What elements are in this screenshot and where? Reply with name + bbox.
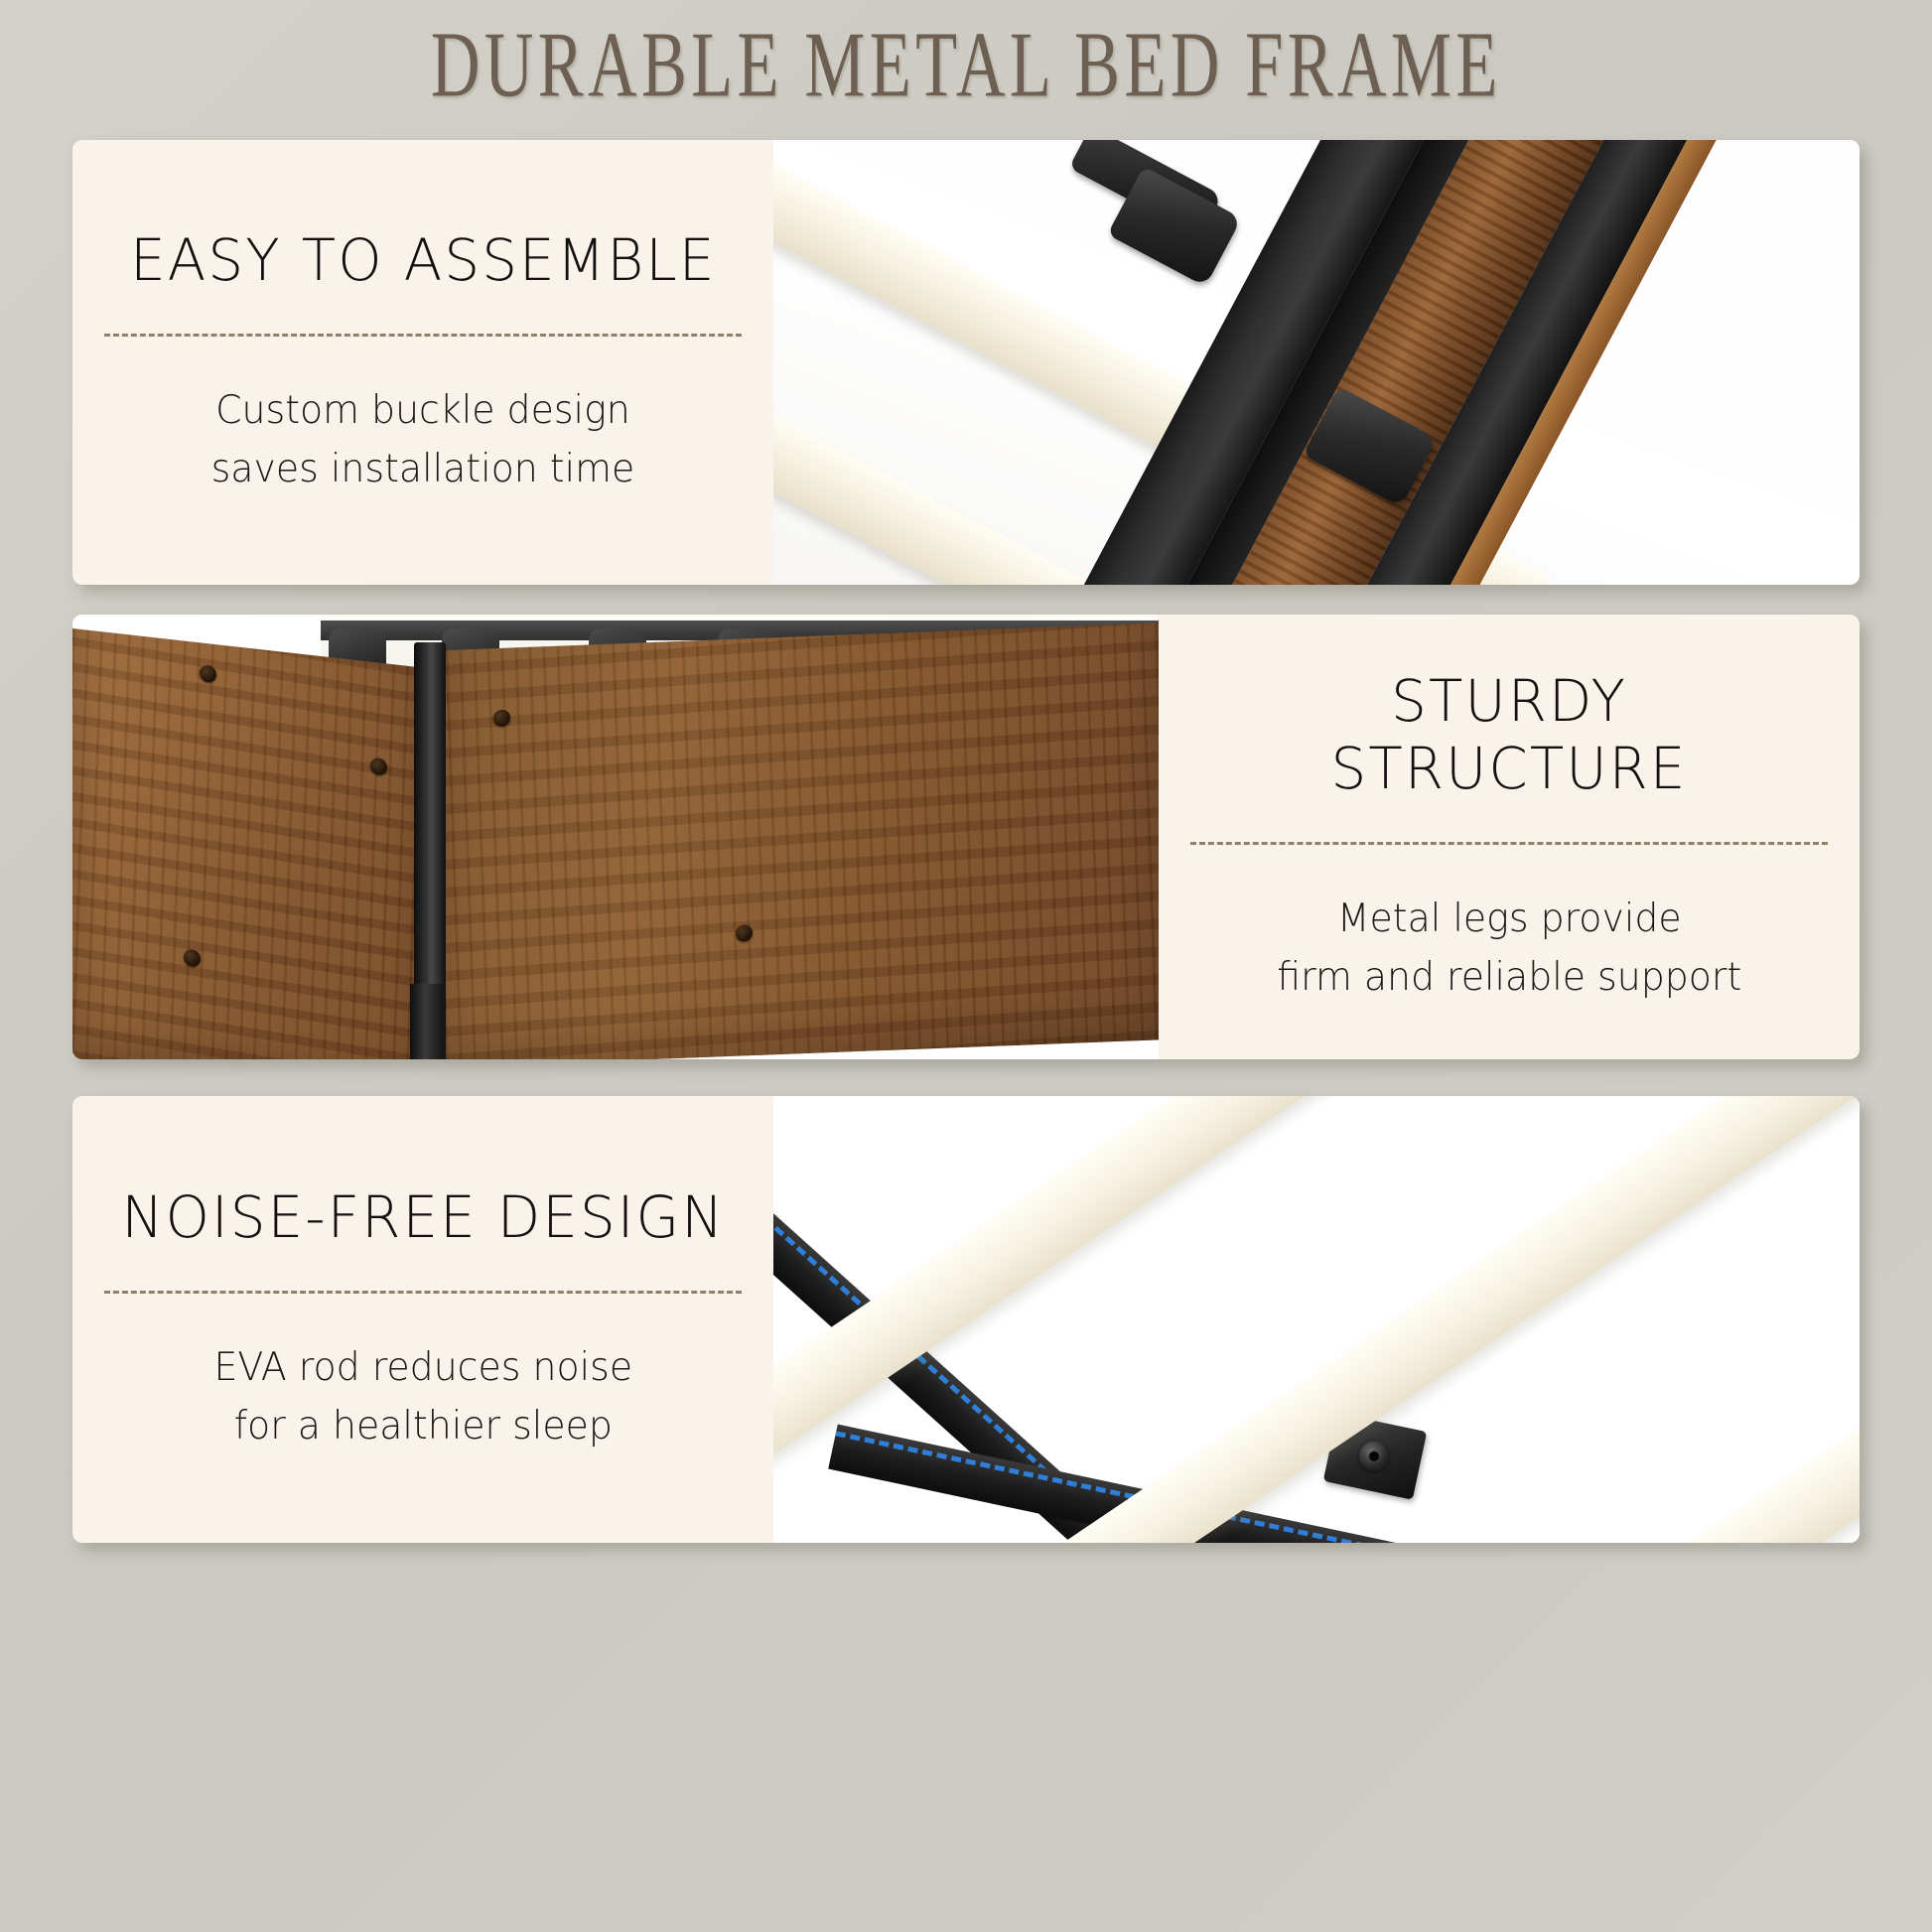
metal-leg xyxy=(410,984,444,1059)
feature-text-panel: STURDY STRUCTURE Metal legs provide firm… xyxy=(1159,615,1860,1059)
dashed-divider xyxy=(104,334,742,337)
feature-text-panel: EASY TO ASSEMBLE Custom buckle design sa… xyxy=(72,140,773,585)
wood-footboard-side xyxy=(446,622,1159,1059)
feature-body-line-1: Custom buckle design xyxy=(215,388,630,433)
feature-card-easy-to-assemble: EASY TO ASSEMBLE Custom buckle design sa… xyxy=(72,140,1860,585)
feature-photo-eva-rod-rails xyxy=(773,1096,1860,1543)
feature-heading-line-2: STRUCTURE xyxy=(1330,735,1687,802)
feature-photo-slat-buckle xyxy=(773,140,1860,585)
feature-card-noise-free-design: NOISE-FREE DESIGN EVA rod reduces noise … xyxy=(72,1096,1860,1543)
infographic-page: DURABLE METAL BED FRAME EASY TO ASSEMBLE… xyxy=(0,0,1932,1932)
feature-heading-line-1: STURDY xyxy=(1391,667,1627,735)
feature-body-line-1: Metal legs provide xyxy=(1337,897,1682,941)
feature-text-panel: NOISE-FREE DESIGN EVA rod reduces noise … xyxy=(72,1096,773,1543)
dashed-divider xyxy=(1190,842,1828,845)
page-title-bar: DURABLE METAL BED FRAME xyxy=(0,0,1932,131)
feature-body: Custom buckle design saves installation … xyxy=(211,382,635,498)
bolt-icon xyxy=(1356,1439,1392,1474)
page-title: DURABLE METAL BED FRAME xyxy=(431,12,1502,118)
wood-footboard-front xyxy=(72,628,422,1059)
feature-card-sturdy-structure: STURDY STRUCTURE Metal legs provide firm… xyxy=(72,615,1860,1059)
feature-body-line-2: saves installation time xyxy=(211,447,635,491)
feature-heading: NOISE-FREE DESIGN xyxy=(121,1183,725,1251)
feature-body: EVA rod reduces noise for a healthier sl… xyxy=(213,1339,632,1455)
feature-body-line-2: for a healthier sleep xyxy=(233,1404,612,1449)
feature-body-line-1: EVA rod reduces noise xyxy=(213,1345,632,1390)
feature-heading: EASY TO ASSEMBLE xyxy=(130,226,716,294)
feature-heading: STURDY STRUCTURE xyxy=(1330,667,1687,803)
feature-photo-wood-footboard xyxy=(72,615,1159,1059)
dashed-divider xyxy=(104,1291,742,1294)
feature-body: Metal legs provide firm and reliable sup… xyxy=(1277,891,1741,1007)
feature-body-line-2: firm and reliable support xyxy=(1277,955,1741,1000)
